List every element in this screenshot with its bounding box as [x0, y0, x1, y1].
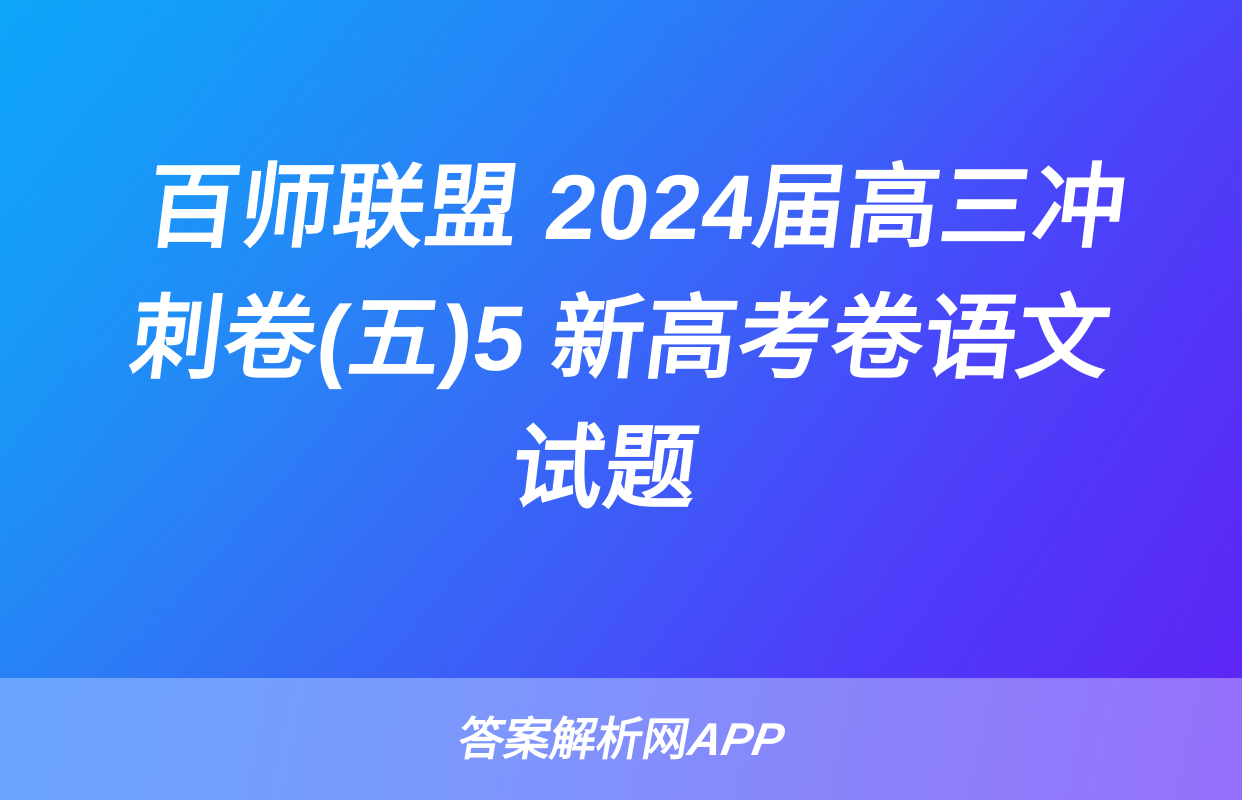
- app-watermark: 答案解析网APP: [455, 716, 788, 762]
- title-line-2: 刺卷(五)5 新高考卷语文: [53, 274, 1189, 405]
- watermark-brand-app: APP: [684, 713, 788, 765]
- watermark-brand-cn: 答案解析网: [454, 713, 693, 765]
- page-title: 百师联盟 2024届高三冲 刺卷(五)5 新高考卷语文 试题: [37, 143, 1205, 535]
- exam-paper-cover: 百师联盟 2024届高三冲 刺卷(五)5 新高考卷语文 试题 答案解析网APP: [0, 0, 1242, 800]
- title-line-3: 试题: [37, 404, 1173, 535]
- footer-band: 答案解析网APP: [0, 678, 1242, 800]
- hero-gradient-panel: 百师联盟 2024届高三冲 刺卷(五)5 新高考卷语文 试题: [0, 0, 1242, 678]
- title-line-1: 百师联盟 2024届高三冲: [69, 143, 1205, 274]
